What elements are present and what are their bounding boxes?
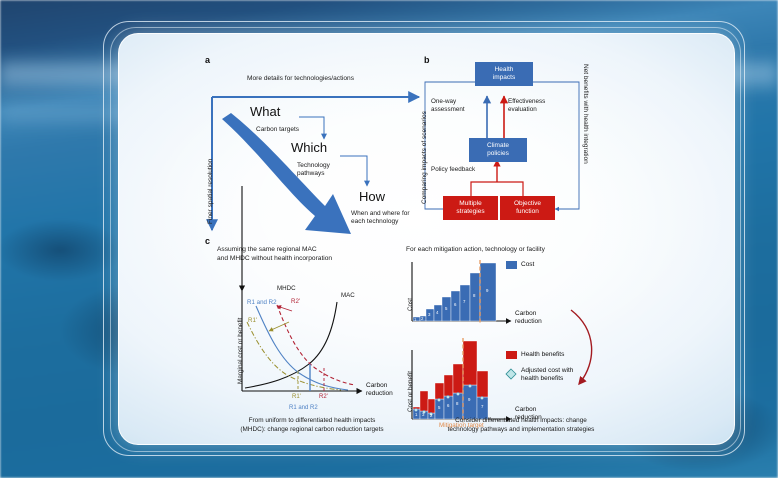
legend-diamond-marker <box>119 34 734 444</box>
figure-panel: a More details for technologies/actions … <box>118 33 735 445</box>
panel-c-right-caption: Consider differentiated health impacts: … <box>406 417 636 434</box>
figure-canvas: a More details for technologies/actions … <box>0 0 778 478</box>
legend-label-adjusted-cost: Adjusted cost with health benefits <box>521 367 573 384</box>
